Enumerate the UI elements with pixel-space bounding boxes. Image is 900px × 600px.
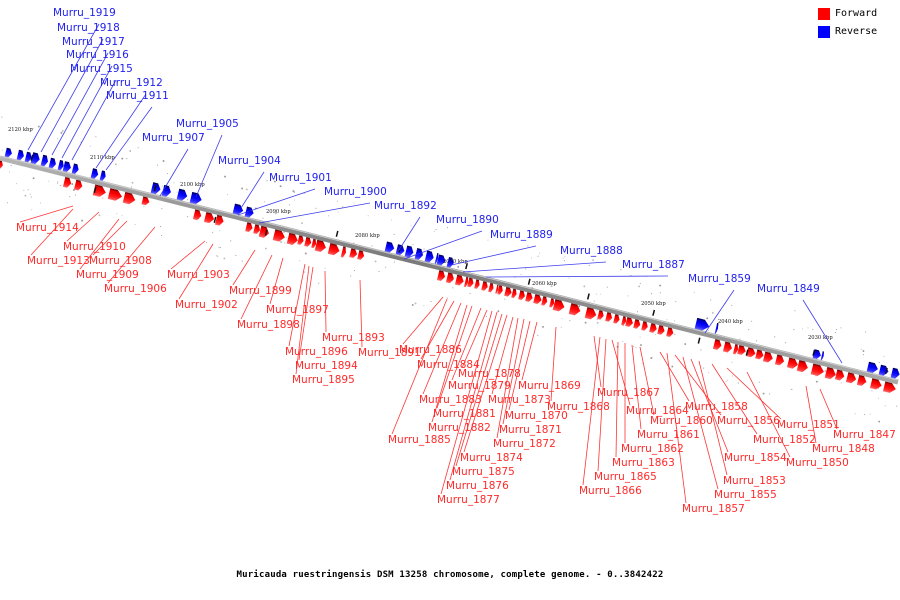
gene-label-murru-1896[interactable]: Murru_1896 xyxy=(285,346,348,358)
gene-label-murru-1866[interactable]: Murru_1866 xyxy=(579,485,642,497)
blue-square-icon xyxy=(818,26,830,38)
gene-label-murru-1902[interactable]: Murru_1902 xyxy=(175,299,238,311)
gene-label-murru-1849[interactable]: Murru_1849 xyxy=(757,283,820,295)
legend-item-forward: Forward xyxy=(818,6,892,21)
gene-label-murru-1903[interactable]: Murru_1903 xyxy=(167,269,230,281)
gene-label-murru-1894[interactable]: Murru_1894 xyxy=(295,360,358,372)
gene-label-murru-1904[interactable]: Murru_1904 xyxy=(218,155,281,167)
leader-line xyxy=(96,94,146,168)
gene-label-murru-1916[interactable]: Murru_1916 xyxy=(66,49,129,61)
gene-label-murru-1911[interactable]: Murru_1911 xyxy=(106,90,169,102)
gene-label-murru-1906[interactable]: Murru_1906 xyxy=(104,283,167,295)
scale-tick-label-6: 2060 kbp xyxy=(532,281,557,287)
leader-line xyxy=(705,290,734,333)
gene-label-murru-1905[interactable]: Murru_1905 xyxy=(176,118,239,130)
gene-label-murru-1914[interactable]: Murru_1914 xyxy=(16,222,79,234)
leader-line xyxy=(660,352,689,401)
gene-label-murru-1915[interactable]: Murru_1915 xyxy=(70,63,133,75)
gene-label-murru-1882[interactable]: Murru_1882 xyxy=(428,422,491,434)
leader-line xyxy=(404,231,482,259)
gene-label-murru-1918[interactable]: Murru_1918 xyxy=(57,22,120,34)
gene-label-murru-1878[interactable]: Murru_1878 xyxy=(458,368,521,380)
scale-tick-label-4: 2080 kbp xyxy=(355,233,380,239)
gene-label-murru-1863[interactable]: Murru_1863 xyxy=(612,457,675,469)
gene-label-murru-1907[interactable]: Murru_1907 xyxy=(142,132,205,144)
scale-tick-label-8: 2040 kbp xyxy=(718,319,743,325)
gene-label-murru-1913[interactable]: Murru_1913 xyxy=(27,255,90,267)
gene-label-murru-1898[interactable]: Murru_1898 xyxy=(237,319,300,331)
gene-label-murru-1858[interactable]: Murru_1858 xyxy=(685,401,748,413)
genome-map-svg: 2120 kbp2110 kbp2100 kbp2090 kbp2080 kbp… xyxy=(0,0,900,600)
gene-label-murru-1860[interactable]: Murru_1860 xyxy=(650,415,713,427)
leader-line xyxy=(486,276,668,277)
leader-line xyxy=(463,262,606,272)
gene-label-murru-1885[interactable]: Murru_1885 xyxy=(388,434,451,446)
scale-tick-label-0: 2120 kbp xyxy=(8,127,33,133)
gene-label-murru-1887[interactable]: Murru_1887 xyxy=(622,259,685,271)
legend-label-reverse: Reverse xyxy=(835,26,877,38)
gene-label-murru-1899[interactable]: Murru_1899 xyxy=(229,285,292,297)
leader-line xyxy=(270,258,283,304)
leader-line xyxy=(667,353,686,503)
legend-label-forward: Forward xyxy=(835,8,877,20)
gene-label-murru-1856[interactable]: Murru_1856 xyxy=(717,415,780,427)
gene-label-murru-1852[interactable]: Murru_1852 xyxy=(753,434,816,446)
gene-label-murru-1850[interactable]: Murru_1850 xyxy=(786,457,849,469)
leader-line xyxy=(403,297,443,344)
gene-label-murru-1888[interactable]: Murru_1888 xyxy=(560,245,623,257)
gene-label-murru-1917[interactable]: Murru_1917 xyxy=(62,36,125,48)
gene-label-murru-1865[interactable]: Murru_1865 xyxy=(594,471,657,483)
gene-label-murru-1897[interactable]: Murru_1897 xyxy=(266,304,329,316)
gene-label-murru-1861[interactable]: Murru_1861 xyxy=(637,429,700,441)
scale-tick-labels: 2120 kbp2110 kbp2100 kbp2090 kbp2080 kbp… xyxy=(8,127,833,341)
genome-diagram-canvas: 2120 kbp2110 kbp2100 kbp2090 kbp2080 kbp… xyxy=(0,0,900,600)
red-square-icon xyxy=(818,8,830,20)
gene-label-murru-1889[interactable]: Murru_1889 xyxy=(490,229,553,241)
gene-label-murru-1886[interactable]: Murru_1886 xyxy=(399,344,462,356)
leader-line xyxy=(522,322,537,380)
gene-label-murru-1879[interactable]: Murru_1879 xyxy=(448,380,511,392)
gene-label-murru-1877[interactable]: Murru_1877 xyxy=(437,494,500,506)
gene-label-murru-1908[interactable]: Murru_1908 xyxy=(89,255,152,267)
gene-label-murru-1909[interactable]: Murru_1909 xyxy=(76,269,139,281)
gene-label-murru-1895[interactable]: Murru_1895 xyxy=(292,374,355,386)
leader-line xyxy=(160,149,188,196)
gene-label-murru-1867[interactable]: Murru_1867 xyxy=(597,387,660,399)
scale-tick-label-7: 2050 kbp xyxy=(641,301,666,307)
gene-label-murru-1893[interactable]: Murru_1893 xyxy=(322,332,385,344)
gene-label-murru-1868[interactable]: Murru_1868 xyxy=(547,401,610,413)
gene-label-murru-1862[interactable]: Murru_1862 xyxy=(621,443,684,455)
gene-label-murru-1857[interactable]: Murru_1857 xyxy=(682,503,745,515)
gene-label-murru-1919[interactable]: Murru_1919 xyxy=(53,7,116,19)
scale-tick-label-9: 2030 kbp xyxy=(808,335,833,341)
gene-label-murru-1912[interactable]: Murru_1912 xyxy=(100,77,163,89)
diagram-caption: Muricauda ruestringensis DSM 13258 chrom… xyxy=(0,570,900,580)
gene-label-murru-1876[interactable]: Murru_1876 xyxy=(446,480,509,492)
gene-label-murru-1871[interactable]: Murru_1871 xyxy=(499,424,562,436)
gene-label-murru-1881[interactable]: Murru_1881 xyxy=(433,408,496,420)
leader-line xyxy=(20,206,73,222)
gene-label-murru-1855[interactable]: Murru_1855 xyxy=(714,489,777,501)
gene-label-murru-1873[interactable]: Murru_1873 xyxy=(488,394,551,406)
legend-item-reverse: Reverse xyxy=(818,24,892,39)
gene-label-murru-1853[interactable]: Murru_1853 xyxy=(723,475,786,487)
gene-label-murru-1859[interactable]: Murru_1859 xyxy=(688,273,751,285)
gene-label-murru-1875[interactable]: Murru_1875 xyxy=(452,466,515,478)
gene-label-murru-1892[interactable]: Murru_1892 xyxy=(374,200,437,212)
strand-legend: Forward Reverse xyxy=(818,6,892,42)
gene-label-murru-1901[interactable]: Murru_1901 xyxy=(269,172,332,184)
gene-label-murru-1854[interactable]: Murru_1854 xyxy=(724,452,787,464)
leader-line xyxy=(325,271,326,332)
scale-tick-label-3: 2090 kbp xyxy=(266,209,291,215)
gene-label-murru-1851[interactable]: Murru_1851 xyxy=(777,419,840,431)
gene-label-murru-1872[interactable]: Murru_1872 xyxy=(493,438,556,450)
gene-label-murru-1874[interactable]: Murru_1874 xyxy=(460,452,523,464)
gene-label-murru-1900[interactable]: Murru_1900 xyxy=(324,186,387,198)
gene-label-murru-1910[interactable]: Murru_1910 xyxy=(63,241,126,253)
leader-line xyxy=(447,246,536,266)
gene-label-murru-1883[interactable]: Murru_1883 xyxy=(419,394,482,406)
gene-label-murru-1890[interactable]: Murru_1890 xyxy=(436,214,499,226)
gene-label-murru-1847[interactable]: Murru_1847 xyxy=(833,429,896,441)
gene-label-murru-1848[interactable]: Murru_1848 xyxy=(812,443,875,455)
leader-line xyxy=(241,172,264,208)
gene-label-murru-1869[interactable]: Murru_1869 xyxy=(518,380,581,392)
